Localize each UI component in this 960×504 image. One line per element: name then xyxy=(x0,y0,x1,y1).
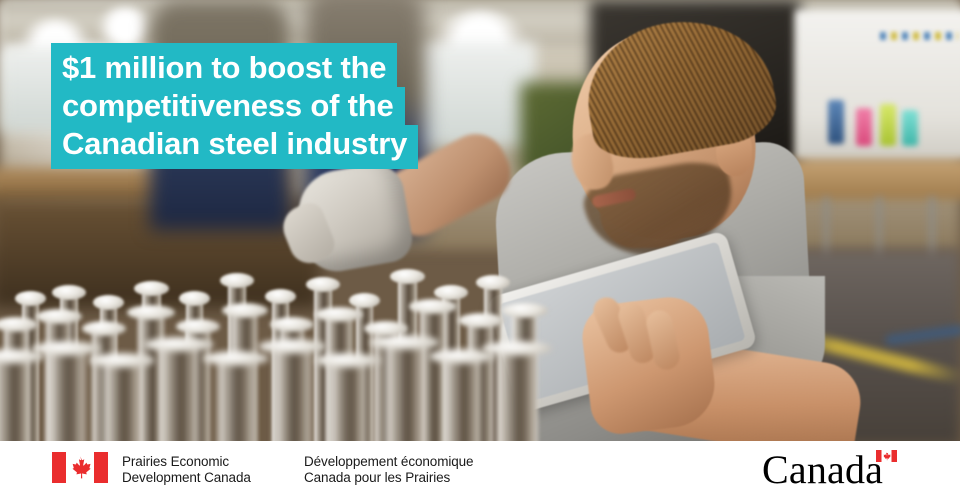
canada-flag-icon xyxy=(52,452,108,483)
steel-rod xyxy=(104,360,140,441)
promotional-banner: $1 million to boost the competitiveness … xyxy=(0,0,960,504)
canada-wordmark: Canada xyxy=(762,448,912,492)
steel-rod xyxy=(48,348,85,441)
headline-line-2: competitiveness of the xyxy=(51,87,405,125)
headline-line-3: Canadian steel industry xyxy=(51,125,418,169)
steel-rods-field xyxy=(0,248,540,441)
headline-line-1: $1 million to boost the xyxy=(51,43,397,87)
steel-rod xyxy=(444,356,480,441)
steel-rod xyxy=(330,360,366,441)
steel-rod xyxy=(160,344,198,441)
steel-rod xyxy=(498,348,536,441)
steel-rod xyxy=(274,346,311,441)
steel-rod xyxy=(218,358,254,441)
canada-wordmark-text: Canada xyxy=(762,447,883,492)
canada-wordmark-flag-icon xyxy=(876,450,897,462)
headline-overlay: $1 million to boost the competitiveness … xyxy=(51,43,418,169)
steel-rod xyxy=(386,342,424,441)
steel-rod xyxy=(0,356,30,441)
fip-signature-french: Développement économique Canada pour les… xyxy=(304,454,473,485)
ceiling-lamp-icon xyxy=(96,6,154,48)
fip-signature-english: Prairies Economic Development Canada xyxy=(122,454,251,485)
